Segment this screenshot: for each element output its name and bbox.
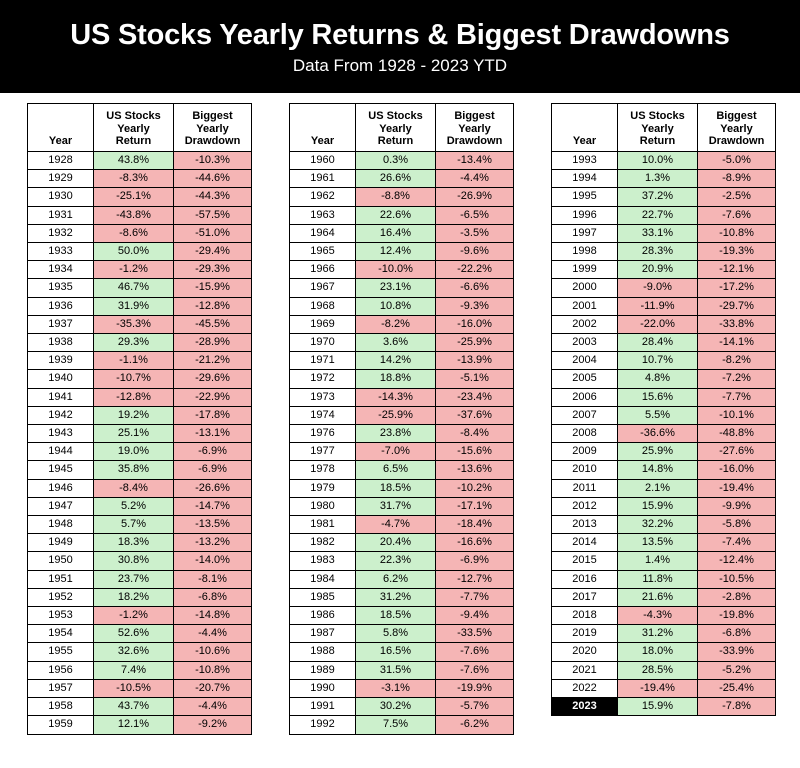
cell-biggest-drawdown: -9.4%	[436, 607, 514, 625]
cell-biggest-drawdown: -8.1%	[174, 570, 252, 588]
cell-biggest-drawdown: -12.8%	[174, 297, 252, 315]
table-row: 2001-11.9%-29.7%	[552, 297, 776, 315]
table-row: 196126.6%-4.4%	[290, 170, 514, 188]
cell-year: 1939	[28, 352, 94, 370]
cell-year: 1969	[290, 315, 356, 333]
cell-year: 1999	[552, 261, 618, 279]
table-row: 193350.0%-29.4%	[28, 243, 252, 261]
cell-yearly-return: 28.5%	[618, 661, 698, 679]
table-row: 1940-10.7%-29.6%	[28, 370, 252, 388]
table-row: 200328.4%-14.1%	[552, 334, 776, 352]
cell-yearly-return: 31.2%	[356, 588, 436, 606]
table-header-row: YearUS StocksYearlyReturnBiggestYearlyDr…	[290, 104, 514, 152]
cell-biggest-drawdown: -9.2%	[174, 716, 252, 734]
table-row: 20112.1%-19.4%	[552, 479, 776, 497]
table-header-row: YearUS StocksYearlyReturnBiggestYearlyDr…	[28, 104, 252, 152]
header-line: US Stocks	[618, 110, 697, 123]
cell-yearly-return: -1.1%	[94, 352, 174, 370]
cell-yearly-return: 26.6%	[356, 170, 436, 188]
column-header-biggest-drawdown: BiggestYearlyDrawdown	[174, 104, 252, 152]
cell-year: 2018	[552, 607, 618, 625]
table-row: 1931-43.8%-57.5%	[28, 206, 252, 224]
cell-year: 2009	[552, 443, 618, 461]
table-row: 20054.8%-7.2%	[552, 370, 776, 388]
cell-yearly-return: 33.1%	[618, 224, 698, 242]
cell-yearly-return: 15.6%	[618, 388, 698, 406]
table-row: 194918.3%-13.2%	[28, 534, 252, 552]
cell-year: 2013	[552, 516, 618, 534]
cell-biggest-drawdown: -29.3%	[174, 261, 252, 279]
returns-drawdowns-table: YearUS StocksYearlyReturnBiggestYearlyDr…	[551, 103, 776, 716]
cell-yearly-return: -4.3%	[618, 607, 698, 625]
cell-year: 1970	[290, 334, 356, 352]
cell-year: 1978	[290, 461, 356, 479]
cell-yearly-return: -1.2%	[94, 261, 174, 279]
table-row: 1929-8.3%-44.6%	[28, 170, 252, 188]
cell-yearly-return: 20.9%	[618, 261, 698, 279]
cell-year: 1936	[28, 297, 94, 315]
table-row: 196416.4%-3.5%	[290, 224, 514, 242]
table-row: 19786.5%-13.6%	[290, 461, 514, 479]
cell-yearly-return: 7.4%	[94, 661, 174, 679]
cell-biggest-drawdown: -2.8%	[698, 588, 776, 606]
cell-year: 2000	[552, 279, 618, 297]
table-row: 1946-8.4%-26.6%	[28, 479, 252, 497]
cell-yearly-return: 16.4%	[356, 224, 436, 242]
cell-year: 1987	[290, 625, 356, 643]
cell-biggest-drawdown: -13.6%	[436, 461, 514, 479]
table-row: 19846.2%-12.7%	[290, 570, 514, 588]
cell-year: 1945	[28, 461, 94, 479]
cell-yearly-return: 5.8%	[356, 625, 436, 643]
table-row: 202315.9%-7.8%	[552, 698, 776, 716]
cell-yearly-return: 3.6%	[356, 334, 436, 352]
cell-year: 1943	[28, 425, 94, 443]
cell-biggest-drawdown: -29.6%	[174, 370, 252, 388]
cell-year: 1954	[28, 625, 94, 643]
table-row: 1990-3.1%-19.9%	[290, 679, 514, 697]
cell-yearly-return: 18.2%	[94, 588, 174, 606]
cell-yearly-return: 37.2%	[618, 188, 698, 206]
cell-biggest-drawdown: -26.9%	[436, 188, 514, 206]
cell-biggest-drawdown: -27.6%	[698, 443, 776, 461]
cell-yearly-return: 6.2%	[356, 570, 436, 588]
table-row: 20151.4%-12.4%	[552, 552, 776, 570]
cell-year: 1948	[28, 516, 94, 534]
cell-biggest-drawdown: -14.1%	[698, 334, 776, 352]
cell-yearly-return: -10.5%	[94, 679, 174, 697]
table-header-row: YearUS StocksYearlyReturnBiggestYearlyDr…	[552, 104, 776, 152]
cell-yearly-return: 18.8%	[356, 370, 436, 388]
cell-year: 1951	[28, 570, 94, 588]
header-line: Biggest	[174, 110, 251, 123]
cell-yearly-return: 25.1%	[94, 425, 174, 443]
cell-year: 1952	[28, 588, 94, 606]
cell-yearly-return: 1.3%	[618, 170, 698, 188]
cell-biggest-drawdown: -17.8%	[174, 406, 252, 424]
table-row: 2000-9.0%-17.2%	[552, 279, 776, 297]
header-line: US Stocks	[94, 110, 173, 123]
cell-yearly-return: 15.9%	[618, 698, 698, 716]
header-line: Return	[618, 135, 697, 148]
cell-year: 1974	[290, 406, 356, 424]
cell-yearly-return: 52.6%	[94, 625, 174, 643]
cell-year: 2016	[552, 570, 618, 588]
table-row: 200615.6%-7.7%	[552, 388, 776, 406]
table-row: 195452.6%-4.4%	[28, 625, 252, 643]
cell-biggest-drawdown: -10.8%	[698, 224, 776, 242]
cell-year: 1968	[290, 297, 356, 315]
cell-year: 1984	[290, 570, 356, 588]
table-row: 1957-10.5%-20.7%	[28, 679, 252, 697]
cell-year: 1959	[28, 716, 94, 734]
cell-year: 1928	[28, 152, 94, 170]
column-header-yearly-return: US StocksYearlyReturn	[356, 104, 436, 152]
cell-year: 1962	[290, 188, 356, 206]
cell-yearly-return: 32.2%	[618, 516, 698, 534]
table-row: 201215.9%-9.9%	[552, 497, 776, 515]
cell-year: 1947	[28, 497, 94, 515]
table-row: 200925.9%-27.6%	[552, 443, 776, 461]
cell-yearly-return: -25.9%	[356, 406, 436, 424]
cell-year: 1985	[290, 588, 356, 606]
cell-year: 1983	[290, 552, 356, 570]
table-row: 193829.3%-28.9%	[28, 334, 252, 352]
cell-yearly-return: 4.8%	[618, 370, 698, 388]
table-row: 1930-25.1%-44.3%	[28, 188, 252, 206]
cell-yearly-return: 15.9%	[618, 497, 698, 515]
cell-biggest-drawdown: -13.9%	[436, 352, 514, 370]
cell-year: 1949	[28, 534, 94, 552]
cell-biggest-drawdown: -33.8%	[698, 315, 776, 333]
cell-year: 1930	[28, 188, 94, 206]
cell-year: 1960	[290, 152, 356, 170]
cell-biggest-drawdown: -51.0%	[174, 224, 252, 242]
table-row: 199310.0%-5.0%	[552, 152, 776, 170]
cell-year: 1997	[552, 224, 618, 242]
table-row: 20075.5%-10.1%	[552, 406, 776, 424]
table-row: 193546.7%-15.9%	[28, 279, 252, 297]
cell-yearly-return: 16.5%	[356, 643, 436, 661]
column-header-year: Year	[552, 104, 618, 152]
table-row: 1937-35.3%-45.5%	[28, 315, 252, 333]
cell-yearly-return: 18.5%	[356, 479, 436, 497]
table-block-3: YearUS StocksYearlyReturnBiggestYearlyDr…	[551, 103, 776, 716]
cell-yearly-return: -1.2%	[94, 607, 174, 625]
cell-biggest-drawdown: -14.8%	[174, 607, 252, 625]
table-row: 1973-14.3%-23.4%	[290, 388, 514, 406]
cell-biggest-drawdown: -10.3%	[174, 152, 252, 170]
cell-yearly-return: 46.7%	[94, 279, 174, 297]
table-row: 198531.2%-7.7%	[290, 588, 514, 606]
table-row: 19703.6%-25.9%	[290, 334, 514, 352]
cell-year: 2004	[552, 352, 618, 370]
returns-drawdowns-table: YearUS StocksYearlyReturnBiggestYearlyDr…	[289, 103, 514, 735]
table-row: 202018.0%-33.9%	[552, 643, 776, 661]
cell-year: 1950	[28, 552, 94, 570]
cell-biggest-drawdown: -29.4%	[174, 243, 252, 261]
cell-yearly-return: -7.0%	[356, 443, 436, 461]
cell-year: 1964	[290, 224, 356, 242]
cell-yearly-return: 28.4%	[618, 334, 698, 352]
table-row: 19600.3%-13.4%	[290, 152, 514, 170]
cell-yearly-return: -43.8%	[94, 206, 174, 224]
cell-year: 1932	[28, 224, 94, 242]
table-row: 19927.5%-6.2%	[290, 716, 514, 734]
cell-biggest-drawdown: -33.9%	[698, 643, 776, 661]
cell-yearly-return: -11.9%	[618, 297, 698, 315]
cell-year: 2017	[552, 588, 618, 606]
cell-year: 1992	[290, 716, 356, 734]
cell-biggest-drawdown: -14.7%	[174, 497, 252, 515]
header-line: Drawdown	[436, 135, 513, 148]
cell-yearly-return: 30.2%	[356, 698, 436, 716]
cell-yearly-return: 22.3%	[356, 552, 436, 570]
cell-biggest-drawdown: -16.0%	[436, 315, 514, 333]
cell-biggest-drawdown: -44.6%	[174, 170, 252, 188]
cell-yearly-return: 19.0%	[94, 443, 174, 461]
cell-year: 1993	[552, 152, 618, 170]
cell-year: 1938	[28, 334, 94, 352]
cell-biggest-drawdown: -19.8%	[698, 607, 776, 625]
cell-yearly-return: 12.1%	[94, 716, 174, 734]
header-line: Biggest	[436, 110, 513, 123]
cell-year: 1990	[290, 679, 356, 697]
cell-yearly-return: -9.0%	[618, 279, 698, 297]
cell-year: 1995	[552, 188, 618, 206]
cell-year: 1971	[290, 352, 356, 370]
cell-biggest-drawdown: -13.2%	[174, 534, 252, 552]
table-row: 196723.1%-6.6%	[290, 279, 514, 297]
cell-biggest-drawdown: -5.7%	[436, 698, 514, 716]
cell-yearly-return: 12.4%	[356, 243, 436, 261]
cell-biggest-drawdown: -22.2%	[436, 261, 514, 279]
cell-biggest-drawdown: -16.0%	[698, 461, 776, 479]
table-row: 195912.1%-9.2%	[28, 716, 252, 734]
cell-biggest-drawdown: -6.9%	[174, 461, 252, 479]
cell-yearly-return: 31.7%	[356, 497, 436, 515]
cell-year: 2006	[552, 388, 618, 406]
cell-yearly-return: 22.7%	[618, 206, 698, 224]
cell-biggest-drawdown: -2.5%	[698, 188, 776, 206]
cell-yearly-return: -19.4%	[618, 679, 698, 697]
cell-biggest-drawdown: -33.5%	[436, 625, 514, 643]
cell-yearly-return: 2.1%	[618, 479, 698, 497]
cell-year: 1942	[28, 406, 94, 424]
cell-yearly-return: 11.8%	[618, 570, 698, 588]
column-header-year: Year	[28, 104, 94, 152]
cell-yearly-return: -3.1%	[356, 679, 436, 697]
cell-year: 1961	[290, 170, 356, 188]
cell-biggest-drawdown: -8.4%	[436, 425, 514, 443]
cell-yearly-return: 23.8%	[356, 425, 436, 443]
cell-yearly-return: 10.7%	[618, 352, 698, 370]
cell-yearly-return: 18.0%	[618, 643, 698, 661]
cell-biggest-drawdown: -7.7%	[436, 588, 514, 606]
cell-biggest-drawdown: -5.2%	[698, 661, 776, 679]
cell-year: 2007	[552, 406, 618, 424]
cell-year: 2012	[552, 497, 618, 515]
table-row: 201332.2%-5.8%	[552, 516, 776, 534]
cell-yearly-return: -8.4%	[94, 479, 174, 497]
cell-biggest-drawdown: -23.4%	[436, 388, 514, 406]
table-row: 19941.3%-8.9%	[552, 170, 776, 188]
table-row: 199828.3%-19.3%	[552, 243, 776, 261]
cell-biggest-drawdown: -8.9%	[698, 170, 776, 188]
cell-biggest-drawdown: -13.4%	[436, 152, 514, 170]
header-line: Return	[356, 135, 435, 148]
cell-year: 1982	[290, 534, 356, 552]
table-row: 193631.9%-12.8%	[28, 297, 252, 315]
cell-biggest-drawdown: -6.2%	[436, 716, 514, 734]
page-title: US Stocks Yearly Returns & Biggest Drawd…	[70, 20, 729, 51]
cell-year: 1935	[28, 279, 94, 297]
cell-yearly-return: -36.6%	[618, 425, 698, 443]
cell-year: 2014	[552, 534, 618, 552]
tables-area: YearUS StocksYearlyReturnBiggestYearlyDr…	[0, 93, 800, 768]
cell-yearly-return: -8.6%	[94, 224, 174, 242]
cell-yearly-return: 5.5%	[618, 406, 698, 424]
page-subtitle: Data From 1928 - 2023 YTD	[293, 56, 507, 76]
table-row: 198931.5%-7.6%	[290, 661, 514, 679]
column-header-year: Year	[290, 104, 356, 152]
returns-drawdowns-table: YearUS StocksYearlyReturnBiggestYearlyDr…	[27, 103, 252, 735]
cell-yearly-return: 14.2%	[356, 352, 436, 370]
cell-biggest-drawdown: -29.7%	[698, 297, 776, 315]
table-row: 1941-12.8%-22.9%	[28, 388, 252, 406]
header-line: Drawdown	[174, 135, 251, 148]
cell-yearly-return: 29.3%	[94, 334, 174, 352]
table-row: 194535.8%-6.9%	[28, 461, 252, 479]
table-row: 1966-10.0%-22.2%	[290, 261, 514, 279]
cell-biggest-drawdown: -37.6%	[436, 406, 514, 424]
cell-yearly-return: 22.6%	[356, 206, 436, 224]
cell-biggest-drawdown: -17.1%	[436, 497, 514, 515]
table-row: 1934-1.2%-29.3%	[28, 261, 252, 279]
header-line: Biggest	[698, 110, 775, 123]
table-row: 195030.8%-14.0%	[28, 552, 252, 570]
cell-year: 1967	[290, 279, 356, 297]
cell-biggest-drawdown: -15.6%	[436, 443, 514, 461]
cell-biggest-drawdown: -9.3%	[436, 297, 514, 315]
cell-biggest-drawdown: -6.8%	[174, 588, 252, 606]
table-row: 201611.8%-10.5%	[552, 570, 776, 588]
table-row: 1977-7.0%-15.6%	[290, 443, 514, 461]
cell-year: 1937	[28, 315, 94, 333]
cell-yearly-return: 31.2%	[618, 625, 698, 643]
cell-biggest-drawdown: -19.9%	[436, 679, 514, 697]
cell-biggest-drawdown: -5.1%	[436, 370, 514, 388]
cell-year: 2020	[552, 643, 618, 661]
cell-yearly-return: -8.8%	[356, 188, 436, 206]
table-row: 195218.2%-6.8%	[28, 588, 252, 606]
cell-biggest-drawdown: -10.6%	[174, 643, 252, 661]
cell-biggest-drawdown: -44.3%	[174, 188, 252, 206]
cell-year: 2002	[552, 315, 618, 333]
cell-yearly-return: 25.9%	[618, 443, 698, 461]
table-row: 2008-36.6%-48.8%	[552, 425, 776, 443]
header-line: Yearly	[618, 123, 697, 136]
header-line: Yearly	[356, 123, 435, 136]
table-row: 1939-1.1%-21.2%	[28, 352, 252, 370]
cell-year: 1957	[28, 679, 94, 697]
cell-year: 1929	[28, 170, 94, 188]
cell-year: 1994	[552, 170, 618, 188]
table-row: 1932-8.6%-51.0%	[28, 224, 252, 242]
table-row: 2002-22.0%-33.8%	[552, 315, 776, 333]
table-row: 197218.8%-5.1%	[290, 370, 514, 388]
cell-year-highlighted: 2023	[552, 698, 618, 716]
table-row: 19475.2%-14.7%	[28, 497, 252, 515]
cell-year: 1956	[28, 661, 94, 679]
cell-yearly-return: -12.8%	[94, 388, 174, 406]
cell-year: 1977	[290, 443, 356, 461]
header-line: Return	[94, 135, 173, 148]
cell-yearly-return: 18.5%	[356, 607, 436, 625]
table-row: 201931.2%-6.8%	[552, 625, 776, 643]
table-row: 1969-8.2%-16.0%	[290, 315, 514, 333]
cell-biggest-drawdown: -26.6%	[174, 479, 252, 497]
cell-year: 1991	[290, 698, 356, 716]
cell-year: 2021	[552, 661, 618, 679]
table-row: 194419.0%-6.9%	[28, 443, 252, 461]
cell-year: 1958	[28, 698, 94, 716]
cell-yearly-return: 13.5%	[618, 534, 698, 552]
cell-yearly-return: 18.3%	[94, 534, 174, 552]
table-block-2: YearUS StocksYearlyReturnBiggestYearlyDr…	[289, 103, 514, 735]
table-row: 198220.4%-16.6%	[290, 534, 514, 552]
cell-biggest-drawdown: -3.5%	[436, 224, 514, 242]
cell-year: 2001	[552, 297, 618, 315]
cell-year: 1998	[552, 243, 618, 261]
cell-biggest-drawdown: -13.1%	[174, 425, 252, 443]
cell-year: 1979	[290, 479, 356, 497]
cell-yearly-return: 43.8%	[94, 152, 174, 170]
cell-year: 1981	[290, 516, 356, 534]
cell-biggest-drawdown: -7.6%	[436, 661, 514, 679]
cell-biggest-drawdown: -12.7%	[436, 570, 514, 588]
cell-year: 1941	[28, 388, 94, 406]
cell-biggest-drawdown: -7.4%	[698, 534, 776, 552]
cell-yearly-return: -10.7%	[94, 370, 174, 388]
cell-yearly-return: 5.2%	[94, 497, 174, 515]
cell-yearly-return: 5.7%	[94, 516, 174, 534]
cell-yearly-return: 31.9%	[94, 297, 174, 315]
table-row: 196322.6%-6.5%	[290, 206, 514, 224]
cell-biggest-drawdown: -7.8%	[698, 698, 776, 716]
cell-biggest-drawdown: -7.6%	[698, 206, 776, 224]
cell-year: 2022	[552, 679, 618, 697]
cell-yearly-return: 32.6%	[94, 643, 174, 661]
cell-biggest-drawdown: -10.2%	[436, 479, 514, 497]
cell-biggest-drawdown: -45.5%	[174, 315, 252, 333]
table-row: 198322.3%-6.9%	[290, 552, 514, 570]
cell-yearly-return: -4.7%	[356, 516, 436, 534]
cell-yearly-return: 23.1%	[356, 279, 436, 297]
cell-yearly-return: 10.8%	[356, 297, 436, 315]
cell-biggest-drawdown: -6.9%	[436, 552, 514, 570]
cell-biggest-drawdown: -16.6%	[436, 534, 514, 552]
table-row: 201413.5%-7.4%	[552, 534, 776, 552]
cell-year: 2005	[552, 370, 618, 388]
column-header-biggest-drawdown: BiggestYearlyDrawdown	[436, 104, 514, 152]
table-row: 2018-4.3%-19.8%	[552, 607, 776, 625]
column-header-yearly-return: US StocksYearlyReturn	[618, 104, 698, 152]
table-row: 1953-1.2%-14.8%	[28, 607, 252, 625]
cell-yearly-return: 43.7%	[94, 698, 174, 716]
cell-yearly-return: 21.6%	[618, 588, 698, 606]
table-row: 199622.7%-7.6%	[552, 206, 776, 224]
